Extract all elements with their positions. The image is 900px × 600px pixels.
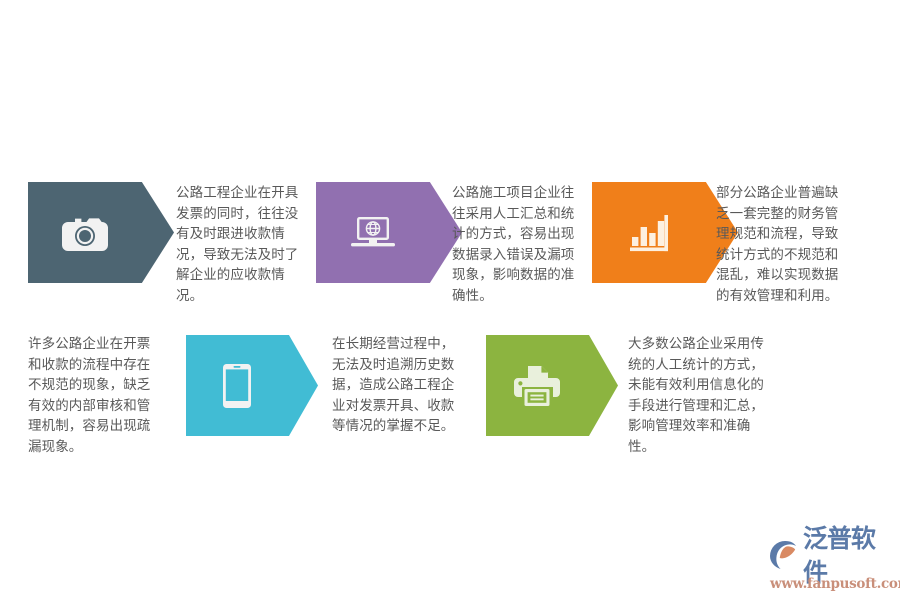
arrow-shape-accounts-receivable-tracking[interactable] <box>28 182 174 283</box>
arrow-shape-historical-data-traceability[interactable] <box>486 335 618 436</box>
text-informatization-efficiency: 大多数公路企业采用传统的人工统计的方式，未能有效利用信息化的手段进行管理和汇总，… <box>628 334 768 457</box>
arrow-shape-manual-data-entry-errors[interactable] <box>316 182 462 283</box>
text-manual-data-entry-errors: 公路施工项目企业往往采用人工汇总和统计的方式，容易出现数据录入错误及漏项现象，影… <box>452 183 576 306</box>
printer-icon <box>509 358 565 414</box>
mobile-phone-icon <box>209 358 265 414</box>
fanpu-software-logo[interactable]: 泛普软件 www.fanpusoft.com <box>768 537 894 595</box>
text-historical-data-traceability: 在长期经营过程中，无法及时追溯历史数据，造成公路工程企业对发票开具、收款等情况的… <box>332 334 456 437</box>
fanpu-logo-mark-icon <box>768 539 802 573</box>
text-accounts-receivable-tracking: 公路工程企业在开具发票的同时，往往没有及时跟进收款情况，导致无法及时了解企业的应… <box>176 183 300 306</box>
infographic-canvas: 公路工程企业在开具发票的同时，往往没有及时跟进收款情况，导致无法及时了解企业的应… <box>0 0 900 600</box>
arrow-shape-internal-audit-mechanism[interactable] <box>186 335 318 436</box>
laptop-globe-icon <box>345 205 401 261</box>
logo-website-url: www.fanpusoft.com <box>768 576 894 592</box>
text-internal-audit-mechanism: 许多公路企业在开票和收款的流程中存在不规范的现象，缺乏有效的内部审核和管理机制，… <box>28 334 152 457</box>
logo-row: 泛普软件 <box>768 537 894 575</box>
text-financial-management-standards: 部分公路企业普遍缺乏一套完整的财务管理规范和流程，导致统计方式的不规范和混乱，难… <box>716 183 840 306</box>
bar-chart-icon <box>621 205 677 261</box>
camera-icon <box>57 205 113 261</box>
